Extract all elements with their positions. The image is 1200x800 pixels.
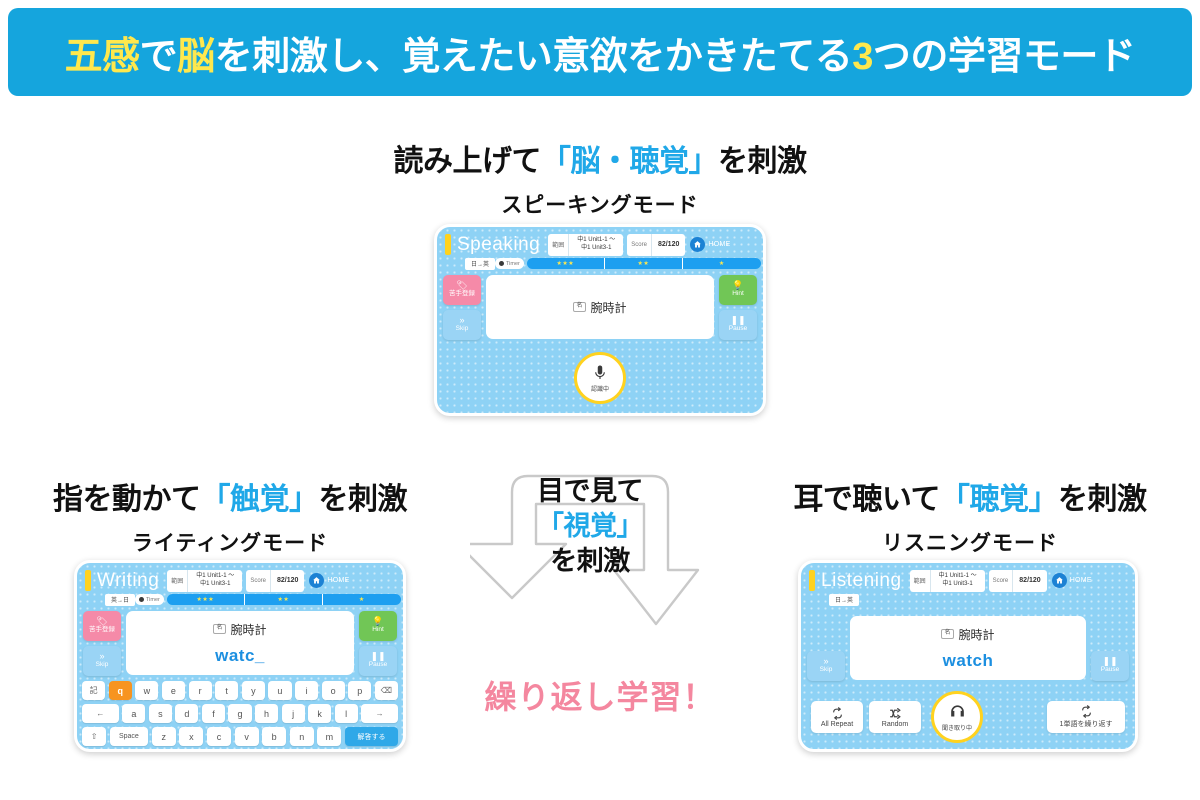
key-i[interactable]: i <box>295 681 318 700</box>
speaking-direction-chip: 日→英 <box>465 258 495 270</box>
speaking-skip-button[interactable]: » Skip <box>443 310 481 340</box>
headphones-icon <box>948 703 967 722</box>
heading-listening-accent: 「聴覚」 <box>940 483 1058 516</box>
speaking-score-box: Score 82/120 <box>627 234 685 256</box>
page-title: 五感で脳を刺激し、覚えたい意欲をかきたてる3つの学習モード <box>65 25 1136 80</box>
key-g[interactable]: g <box>228 704 251 723</box>
speaking-range-line2: 中1 Unit3-1 <box>581 245 611 253</box>
cycle-arrow-group: 目で見て 「視覚」 を刺激 <box>470 452 710 662</box>
listening-left-spacer <box>807 616 845 646</box>
heading-listening-sub: リスニングモード <box>750 527 1190 557</box>
writing-weak-register-button[interactable]: 🏷 苦手登録 <box>83 611 121 641</box>
listening-left-controls: » Skip <box>807 616 845 681</box>
repeat-one-icon <box>1080 705 1093 718</box>
listening-mode-name: Listening <box>821 571 902 590</box>
writing-range-box[interactable]: 範囲 中1 Unit1-1 ～ 中1 Unit3-1 <box>167 570 242 592</box>
speaking-timer-label: Timer <box>506 261 520 267</box>
banner-part-1: 五感 <box>65 36 140 78</box>
listening-en-word: watch <box>943 651 994 671</box>
listening-range-line1: 中1 Unit1-1 ～ <box>939 573 977 581</box>
listening-range-box[interactable]: 範囲 中1 Unit1-1 ～ 中1 Unit3-1 <box>910 570 985 592</box>
heading-speaking: 読み上げて「脳・聴覚」を刺激 スピーキングモード <box>0 136 1200 219</box>
listening-pos-badge: 名 <box>941 629 953 639</box>
speaking-mode-name: Speaking <box>457 235 540 254</box>
skip-forward-icon: » <box>99 652 104 661</box>
listening-right-spacer <box>1091 616 1129 646</box>
speaking-top-bar: Speaking 範囲 中1 Unit1-1 ～ 中1 Unit3-1 Scor… <box>437 227 763 255</box>
key-s[interactable]: s <box>149 704 172 723</box>
speaking-right-controls: 💡 Hint ❚❚ Pause <box>719 275 757 340</box>
speaking-timer-bar: ★★★ ★★ ★ <box>527 258 761 269</box>
timer-icon <box>499 261 504 266</box>
listening-play-label: 聞き取り中 <box>942 723 972 732</box>
speaking-range-label: 範囲 <box>548 234 569 256</box>
writing-top-bar: Writing 範囲 中1 Unit1-1 ～ 中1 Unit3-1 Score… <box>77 563 403 591</box>
heading-writing-accent: 「触覚」 <box>201 483 319 516</box>
speaking-range-value: 中1 Unit1-1 ～ 中1 Unit3-1 <box>569 234 623 256</box>
listening-home-label: HOME <box>1070 577 1092 584</box>
key-c[interactable]: c <box>207 727 231 746</box>
speaking-mic-label: 認識中 <box>591 384 609 393</box>
listening-range-label: 範囲 <box>910 570 931 592</box>
skip-forward-icon: » <box>823 657 828 666</box>
writing-score-label: Score <box>246 570 271 592</box>
cycle-line-3: を刺激 <box>470 544 710 579</box>
keyboard-row-2: ← a s d f g h j k l → <box>82 704 398 723</box>
cycle-line-2: 「視覚」 <box>470 509 710 544</box>
yellow-tab-marker <box>809 570 815 591</box>
speaking-mic-button[interactable]: 認識中 <box>574 352 626 404</box>
listening-skip-label: Skip <box>820 666 833 675</box>
banner-part-2: で <box>140 36 178 78</box>
timer-segment-2: ★★ <box>245 594 323 605</box>
speaking-jp-line: 名 腕時計 <box>573 299 626 316</box>
speaking-score-value: 82/120 <box>652 234 685 256</box>
key-x[interactable]: x <box>179 727 203 746</box>
tag-icon: 🏷 <box>96 617 107 626</box>
speaking-weak-register-button[interactable]: 🏷 苦手登録 <box>443 275 481 305</box>
heading-writing: 指を動かて「触覚」を刺激 ライティングモード <box>10 474 450 557</box>
writing-jp-word: 腕時計 <box>231 621 267 638</box>
timer-segment-1: ★★★ <box>167 594 245 605</box>
banner-part-4: を刺激し、覚えたい意欲をかきたてる <box>215 36 853 78</box>
key-v[interactable]: v <box>235 727 259 746</box>
listening-play-button[interactable]: 聞き取り中 <box>931 691 983 743</box>
speaking-mic-zone: 認識中 <box>437 352 763 404</box>
speaking-hint-label: Hint <box>732 290 744 299</box>
key-l[interactable]: l <box>335 704 358 723</box>
speaking-status-row: 日→英 Timer ★★★ ★★ ★ <box>437 255 763 270</box>
submit-answer-button[interactable]: 解答する <box>345 727 398 746</box>
writing-range-line1: 中1 Unit1-1 ～ <box>196 573 234 581</box>
repeat-one-word-button[interactable]: 1単語を繰り返す <box>1047 701 1125 733</box>
writing-right-controls: 💡 Hint ❚❚ Pause <box>359 611 397 676</box>
page-header-banner: 五感で脳を刺激し、覚えたい意欲をかきたてる3つの学習モード <box>8 8 1192 96</box>
all-repeat-label: All Repeat <box>821 721 853 728</box>
speaking-score-label: Score <box>627 234 652 256</box>
listening-skip-button[interactable]: » Skip <box>807 651 845 681</box>
yellow-tab-marker <box>85 570 91 591</box>
writing-keyboard: 記 q w e r t y u i o p ⌫ ← a s d f g h j … <box>77 681 403 751</box>
listening-home-button[interactable]: HOME <box>1052 573 1092 588</box>
speaking-range-line1: 中1 Unit1-1 ～ <box>577 237 615 245</box>
microphone-icon <box>591 364 609 382</box>
writing-skip-label: Skip <box>96 661 109 670</box>
writing-home-button[interactable]: HOME <box>309 573 349 588</box>
timer-segment-1: ★★★ <box>527 258 605 269</box>
listening-score-box: Score 82/120 <box>989 570 1047 592</box>
listening-range-value: 中1 Unit1-1 ～ 中1 Unit3-1 <box>931 570 985 592</box>
writing-left-controls: 🏷 苦手登録 » Skip <box>83 611 121 676</box>
key-j[interactable]: j <box>282 704 305 723</box>
key-u[interactable]: u <box>268 681 291 700</box>
lightbulb-icon: 💡 <box>732 281 743 290</box>
writing-status-row: 英→日 Timer ★★★ ★★ ★ <box>77 591 403 606</box>
listening-playback-controls: All Repeat Random 聞き取り中 1単語を繰り返す <box>801 681 1135 743</box>
timer-segment-3: ★ <box>323 594 401 605</box>
writing-range-line2: 中1 Unit3-1 <box>200 581 230 589</box>
writing-answer-input[interactable]: watc_ <box>215 646 265 666</box>
writing-timer-label: Timer <box>146 597 160 603</box>
listening-pause-button[interactable]: ❚❚ Pause <box>1091 651 1129 681</box>
device-speaking: Speaking 範囲 中1 Unit1-1 ～ 中1 Unit3-1 Scor… <box>434 224 766 416</box>
listening-range-line2: 中1 Unit3-1 <box>942 581 972 589</box>
listening-pause-label: Pause <box>1101 666 1119 675</box>
heading-speaking-main: 読み上げて「脳・聴覚」を刺激 <box>0 136 1200 180</box>
key-b[interactable]: b <box>262 727 286 746</box>
yellow-tab-marker <box>445 234 451 255</box>
writing-pos-badge: 名 <box>213 624 225 634</box>
banner-part-6: つの学習モード <box>873 36 1136 78</box>
shift-icon[interactable]: ⇧ <box>82 727 106 746</box>
key-r[interactable]: r <box>189 681 212 700</box>
backspace-icon[interactable]: ⌫ <box>375 681 398 700</box>
speaking-pause-button[interactable]: ❚❚ Pause <box>719 310 757 340</box>
key-space[interactable]: Space <box>110 727 149 746</box>
writing-score-value: 82/120 <box>271 570 304 592</box>
writing-direction-chip: 英→日 <box>105 594 135 606</box>
heading-listening: 耳で聴いて「聴覚」を刺激 リスニングモード <box>750 474 1190 557</box>
device-listening: Listening 範囲 中1 Unit1-1 ～ 中1 Unit3-1 Sco… <box>798 560 1138 752</box>
heading-writing-pre: 指を動かて <box>53 483 201 516</box>
speaking-range-box[interactable]: 範囲 中1 Unit1-1 ～ 中1 Unit3-1 <box>548 234 623 256</box>
keyboard-row-3: ⇧ Space z x c v b n m 解答する <box>82 727 398 746</box>
repeat-icon <box>831 707 844 720</box>
key-q[interactable]: q <box>109 681 132 700</box>
key-o[interactable]: o <box>322 681 345 700</box>
listening-word-panel: 名 腕時計 watch <box>850 616 1086 680</box>
writing-home-label: HOME <box>327 577 349 584</box>
listening-score-value: 82/120 <box>1013 570 1046 592</box>
key-m[interactable]: m <box>317 727 341 746</box>
listening-jp-word: 腕時計 <box>959 626 995 643</box>
listening-right-controls: ❚❚ Pause <box>1091 616 1129 681</box>
key-y[interactable]: y <box>242 681 265 700</box>
key-k[interactable]: k <box>308 704 331 723</box>
speaking-jp-word: 腕時計 <box>591 299 627 316</box>
key-d[interactable]: d <box>175 704 198 723</box>
pause-icon: ❚❚ <box>730 316 745 325</box>
writing-pause-label: Pause <box>369 661 387 670</box>
home-icon <box>309 573 324 588</box>
writing-pause-button[interactable]: ❚❚ Pause <box>359 646 397 676</box>
heading-listening-post: を刺激 <box>1058 483 1147 516</box>
speaking-pos-badge: 名 <box>573 302 585 312</box>
writing-score-box: Score 82/120 <box>246 570 304 592</box>
speaking-timer-wrap: Timer ★★★ ★★ ★ <box>495 258 761 269</box>
writing-hint-button[interactable]: 💡 Hint <box>359 611 397 641</box>
key-t[interactable]: t <box>215 681 238 700</box>
banner-part-5: 3 <box>852 36 873 78</box>
key-f[interactable]: f <box>202 704 225 723</box>
pause-icon: ❚❚ <box>1102 657 1117 666</box>
speaking-home-button[interactable]: HOME <box>690 237 730 252</box>
key-z[interactable]: z <box>152 727 176 746</box>
lightbulb-icon: 💡 <box>372 617 383 626</box>
writing-mode-name: Writing <box>97 571 159 590</box>
key-a[interactable]: a <box>122 704 145 723</box>
key-p[interactable]: p <box>348 681 371 700</box>
timer-segment-2: ★★ <box>605 258 683 269</box>
speaking-hint-button[interactable]: 💡 Hint <box>719 275 757 305</box>
writing-body: 🏷 苦手登録 » Skip 名 腕時計 watc_ 💡 Hint ❚❚ Paus… <box>77 606 403 676</box>
writing-hint-label: Hint <box>372 626 384 635</box>
cycle-text-block: 目で見て 「視覚」 を刺激 <box>470 474 710 579</box>
writing-jp-line: 名 腕時計 <box>213 621 266 638</box>
heading-writing-sub: ライティングモード <box>10 527 450 557</box>
shuffle-icon <box>889 707 902 720</box>
writing-range-value: 中1 Unit1-1 ～ 中1 Unit3-1 <box>188 570 242 592</box>
listening-direction-chip: 日→英 <box>829 594 859 606</box>
skip-forward-icon: » <box>459 316 464 325</box>
device-writing: Writing 範囲 中1 Unit1-1 ～ 中1 Unit3-1 Score… <box>74 560 406 752</box>
random-button[interactable]: Random <box>869 701 921 733</box>
writing-skip-button[interactable]: » Skip <box>83 646 121 676</box>
speaking-timer-chip: Timer <box>495 258 524 269</box>
all-repeat-button[interactable]: All Repeat <box>811 701 863 733</box>
random-label: Random <box>882 721 908 728</box>
keyboard-row-1: 記 q w e r t y u i o p ⌫ <box>82 681 398 700</box>
speaking-pause-label: Pause <box>729 325 747 334</box>
cycle-line-1: 目で見て <box>470 474 710 509</box>
timer-icon <box>139 597 144 602</box>
speaking-word-panel: 名 腕時計 <box>486 275 714 339</box>
key-e[interactable]: e <box>162 681 185 700</box>
speaking-body: 🏷 苦手登録 » Skip 名 腕時計 💡 Hint ❚❚ Pause <box>437 270 763 340</box>
speaking-home-label: HOME <box>708 241 730 248</box>
repeat-one-label: 1単語を繰り返す <box>1060 719 1113 729</box>
heading-writing-main: 指を動かて「触覚」を刺激 <box>10 474 450 518</box>
heading-listening-pre: 耳で聴いて <box>793 483 940 516</box>
heading-speaking-accent: 「脳・聴覚」 <box>541 145 718 178</box>
banner-part-3: 脳 <box>177 36 215 78</box>
listening-jp-line: 名 腕時計 <box>941 626 994 643</box>
timer-segment-3: ★ <box>683 258 761 269</box>
arrow-right-icon[interactable]: → <box>361 704 398 723</box>
tag-icon: 🏷 <box>456 281 467 290</box>
key-h[interactable]: h <box>255 704 278 723</box>
heading-listening-main: 耳で聴いて「聴覚」を刺激 <box>750 474 1190 518</box>
heading-speaking-pre: 読み上げて <box>394 145 542 178</box>
heading-speaking-post: を刺激 <box>718 145 807 178</box>
pause-icon: ❚❚ <box>370 652 385 661</box>
listening-status-row: 日→英 <box>801 591 1135 606</box>
heading-writing-post: を刺激 <box>319 483 408 516</box>
key-symbol[interactable]: 記 <box>82 681 105 700</box>
speaking-weak-label: 苦手登録 <box>449 290 475 299</box>
writing-weak-label: 苦手登録 <box>89 626 115 635</box>
key-n[interactable]: n <box>290 727 314 746</box>
listening-body: » Skip 名 腕時計 watch ❚❚ Pause <box>801 606 1135 681</box>
listening-top-bar: Listening 範囲 中1 Unit1-1 ～ 中1 Unit3-1 Sco… <box>801 563 1135 591</box>
writing-range-label: 範囲 <box>167 570 188 592</box>
home-icon <box>690 237 705 252</box>
home-icon <box>1052 573 1067 588</box>
speaking-left-controls: 🏷 苦手登録 » Skip <box>443 275 481 340</box>
listening-score-label: Score <box>989 570 1014 592</box>
writing-timer-wrap: Timer ★★★ ★★ ★ <box>135 594 401 605</box>
heading-speaking-sub: スピーキングモード <box>0 189 1200 219</box>
writing-timer-chip: Timer <box>135 594 164 605</box>
speaking-skip-label: Skip <box>456 325 469 334</box>
writing-word-panel: 名 腕時計 watc_ <box>126 611 354 675</box>
key-w[interactable]: w <box>135 681 158 700</box>
arrow-left-icon[interactable]: ← <box>82 704 119 723</box>
writing-timer-bar: ★★★ ★★ ★ <box>167 594 401 605</box>
